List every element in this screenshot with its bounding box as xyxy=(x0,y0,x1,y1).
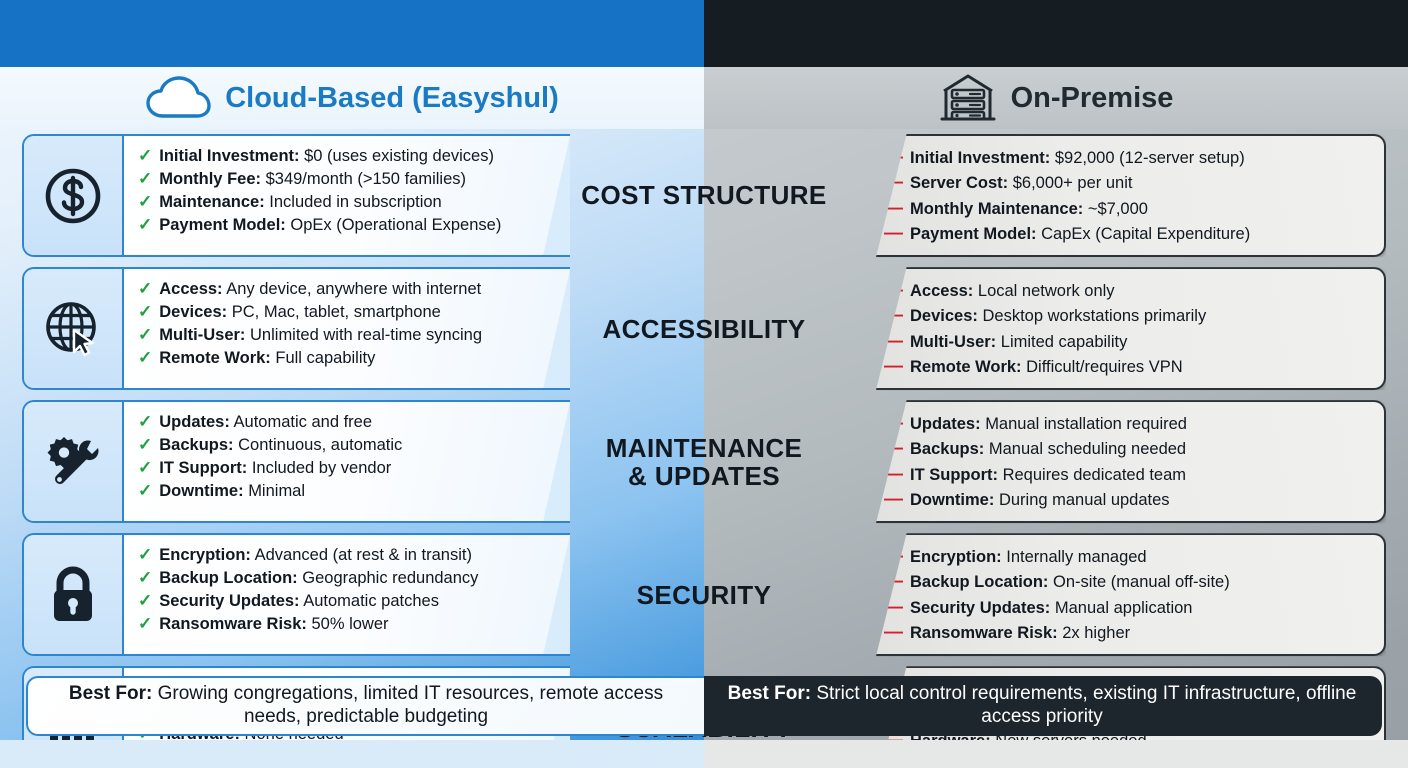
best-for-label: Best For: xyxy=(69,683,152,704)
minus-icon: — xyxy=(884,436,903,461)
bullet-list-cloud: ✓Initial Investment: $0 (uses existing d… xyxy=(124,136,570,255)
bullet-item: ✓Devices: PC, Mac, tablet, smartphone xyxy=(138,301,560,324)
check-icon: ✓ xyxy=(138,411,152,434)
bullet-item: —Devices: Desktop workstations primarily xyxy=(884,303,1370,328)
best-for-onpremise: Best For: Strict local control requireme… xyxy=(704,672,1408,740)
column-header-onpremise: On-Premise xyxy=(704,67,1408,129)
row-card-onpremise: —Updates: Manual installation required —… xyxy=(876,400,1386,523)
minus-icon: — xyxy=(884,544,903,569)
category-label: MAINTENANCE & UPDATES xyxy=(560,395,848,528)
bullet-item: —Monthly Maintenance: ~$7,000 xyxy=(884,196,1370,221)
check-icon: ✓ xyxy=(138,324,152,347)
minus-icon: — xyxy=(884,329,903,354)
bullet-item: ✓Security Updates: Automatic patches xyxy=(138,590,560,613)
bullet-list-cloud: ✓Updates: Automatic and free ✓Backups: C… xyxy=(124,402,570,521)
comparison-row: COST STRUCTURE ✓Initial Investment: $0 (… xyxy=(0,129,1408,262)
bullet-item: —Encryption: Internally managed xyxy=(884,544,1370,569)
column-header-cloud: Cloud-Based (Easyshul) xyxy=(0,67,704,129)
minus-icon: — xyxy=(884,487,903,512)
column-header-cloud-label: Cloud-Based (Easyshul) xyxy=(225,82,559,115)
minus-icon: — xyxy=(884,411,903,436)
check-icon: ✓ xyxy=(138,567,152,590)
row-card-cloud: ✓Encryption: Advanced (at rest & in tran… xyxy=(22,533,570,656)
bullet-item: —Downtime: During manual updates xyxy=(884,487,1370,512)
bullet-list-cloud: ✓Encryption: Advanced (at rest & in tran… xyxy=(124,535,570,654)
comparison-row: SECURITY ✓Encryption: Advanced (at rest … xyxy=(0,528,1408,661)
row-card-cloud: ✓Initial Investment: $0 (uses existing d… xyxy=(22,134,570,257)
minus-icon: — xyxy=(884,354,903,379)
bullet-item: —Security Updates: Manual application xyxy=(884,595,1370,620)
minus-icon: — xyxy=(884,145,903,170)
check-icon: ✓ xyxy=(138,544,152,567)
bullet-item: ✓Multi-User: Unlimited with real-time sy… xyxy=(138,324,560,347)
minus-icon: — xyxy=(884,462,903,487)
check-icon: ✓ xyxy=(138,434,152,457)
lock-icon xyxy=(24,535,124,654)
check-icon: ✓ xyxy=(138,191,152,214)
bullet-item: ✓Updates: Automatic and free xyxy=(138,411,560,434)
row-card-onpremise: —Encryption: Internally managed —Backup … xyxy=(876,533,1386,656)
check-icon: ✓ xyxy=(138,613,152,636)
check-icon: ✓ xyxy=(138,278,152,301)
best-for-section: Best For: Growing congregations, limited… xyxy=(0,672,1408,740)
best-for-cloud: Best For: Growing congregations, limited… xyxy=(0,672,704,740)
minus-icon: — xyxy=(884,595,903,620)
bullet-item: ✓Payment Model: OpEx (Operational Expens… xyxy=(138,214,560,237)
best-for-onpremise-value: Strict local control requirements, exist… xyxy=(816,683,1356,727)
title-bar-left-half xyxy=(0,0,704,67)
best-for-cloud-card: Best For: Growing congregations, limited… xyxy=(26,676,704,736)
check-icon: ✓ xyxy=(138,214,152,237)
minus-icon: — xyxy=(884,278,903,303)
bullet-item: ✓Monthly Fee: $349/month (>150 families) xyxy=(138,168,560,191)
check-icon: ✓ xyxy=(138,480,152,503)
bullet-item: —Multi-User: Limited capability xyxy=(884,329,1370,354)
bullet-item: —Updates: Manual installation required xyxy=(884,411,1370,436)
bullet-item: ✓Ransomware Risk: 50% lower xyxy=(138,613,560,636)
bullet-item: —Backup Location: On-site (manual off-si… xyxy=(884,569,1370,594)
best-for-cloud-value: Growing congregations, limited IT resour… xyxy=(158,683,663,727)
dollar-circle-icon xyxy=(24,136,124,255)
minus-icon: — xyxy=(884,569,903,594)
cloud-icon xyxy=(145,76,211,120)
footer-bar xyxy=(0,740,1408,768)
title-bar-right-half xyxy=(704,0,1408,67)
row-card-onpremise: —Access: Local network only —Devices: De… xyxy=(876,267,1386,390)
gear-wrench-icon xyxy=(24,402,124,521)
bullet-item: ✓Remote Work: Full capability xyxy=(138,347,560,370)
best-for-label: Best For: xyxy=(728,683,811,704)
bullet-item: ✓Downtime: Minimal xyxy=(138,480,560,503)
bullet-item: ✓Encryption: Advanced (at rest & in tran… xyxy=(138,544,560,567)
globe-cursor-icon xyxy=(24,269,124,388)
footer-right-half xyxy=(704,740,1408,768)
footer-left-half xyxy=(0,740,704,768)
category-label: SECURITY xyxy=(560,528,848,661)
minus-icon: — xyxy=(884,620,903,645)
check-icon: ✓ xyxy=(138,457,152,480)
bullet-item: ✓Maintenance: Included in subscription xyxy=(138,191,560,214)
bullet-list-cloud: ✓Access: Any device, anywhere with inter… xyxy=(124,269,570,388)
comparison-row: MAINTENANCE & UPDATES ✓Updates: Automati… xyxy=(0,395,1408,528)
bullet-item: ✓Backup Location: Geographic redundancy xyxy=(138,567,560,590)
minus-icon: — xyxy=(884,221,903,246)
bullet-item: ✓Backups: Continuous, automatic xyxy=(138,434,560,457)
check-icon: ✓ xyxy=(138,301,152,324)
title-bar xyxy=(0,0,1408,67)
bullet-item: —Access: Local network only xyxy=(884,278,1370,303)
check-icon: ✓ xyxy=(138,590,152,613)
check-icon: ✓ xyxy=(138,347,152,370)
comparison-row: ACCESSIBILITY ✓Access: Any device, anywh… xyxy=(0,262,1408,395)
row-card-cloud: ✓Access: Any device, anywhere with inter… xyxy=(22,267,570,390)
bullet-item: —Backups: Manual scheduling needed xyxy=(884,436,1370,461)
minus-icon: — xyxy=(884,196,903,221)
best-for-onpremise-card: Best For: Strict local control requireme… xyxy=(704,676,1382,736)
minus-icon: — xyxy=(884,303,903,328)
row-card-onpremise: —Initial Investment: $92,000 (12-server … xyxy=(876,134,1386,257)
bullet-item: —Payment Model: CapEx (Capital Expenditu… xyxy=(884,221,1370,246)
row-card-cloud: ✓Updates: Automatic and free ✓Backups: C… xyxy=(22,400,570,523)
bullet-item: ✓IT Support: Included by vendor xyxy=(138,457,560,480)
check-icon: ✓ xyxy=(138,145,152,168)
column-header-onpremise-label: On-Premise xyxy=(1011,82,1174,115)
category-label: ACCESSIBILITY xyxy=(560,262,848,395)
bullet-item: —Ransomware Risk: 2x higher xyxy=(884,620,1370,645)
column-headers: Cloud-Based (Easyshul) On-Premise xyxy=(0,67,1408,129)
bullet-item: ✓Initial Investment: $0 (uses existing d… xyxy=(138,145,560,168)
server-building-icon xyxy=(939,73,997,123)
bullet-item: —Initial Investment: $92,000 (12-server … xyxy=(884,145,1370,170)
bullet-item: —Remote Work: Difficult/requires VPN xyxy=(884,354,1370,379)
check-icon: ✓ xyxy=(138,168,152,191)
bullet-item: ✓Access: Any device, anywhere with inter… xyxy=(138,278,560,301)
bullet-item: —IT Support: Requires dedicated team xyxy=(884,462,1370,487)
bullet-item: —Server Cost: $6,000+ per unit xyxy=(884,170,1370,195)
comparison-infographic: Cloud-Based vs On-Premise Synagogue Soft… xyxy=(0,0,1408,768)
category-label: COST STRUCTURE xyxy=(560,129,848,262)
minus-icon: — xyxy=(884,170,903,195)
